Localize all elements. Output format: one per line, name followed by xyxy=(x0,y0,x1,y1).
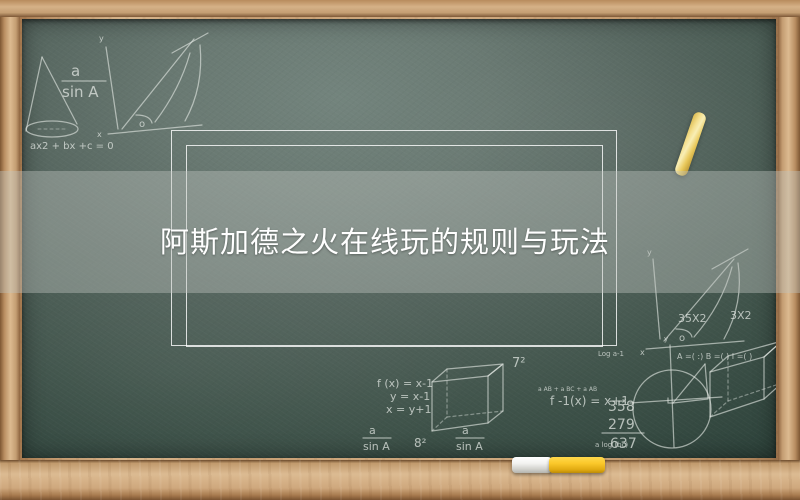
chalk-addition-addend-2: 279 xyxy=(608,417,635,433)
frame-top-rail xyxy=(0,0,800,17)
tray-grain-texture xyxy=(0,460,800,500)
chalk-addition-addend-1: 358 xyxy=(608,399,635,415)
page-title: 阿斯加德之火在线玩的规则与玩法 xyxy=(160,228,610,257)
chalk-circle-y-label: y xyxy=(664,335,668,343)
chalk-multiplication-b: 3X2 xyxy=(730,309,752,322)
chalk-addition-sum: 637 xyxy=(610,436,637,452)
chalk-log-small: Log a-1 xyxy=(598,350,624,358)
frame-bottom-tray xyxy=(0,460,800,500)
yellow-chalk-in-tray xyxy=(549,457,605,473)
chalk-multiplication-a: 35X2 xyxy=(678,312,707,325)
chalk-circle-vertical-axis xyxy=(670,345,674,447)
chalk-cube-right-front xyxy=(710,357,764,417)
chalk-matrix-expression: A =( :) B =( ) I =( ) xyxy=(677,352,752,361)
white-chalk-in-tray xyxy=(512,457,552,473)
chalk-cube-right-side xyxy=(764,341,776,399)
blackboard-banner: a sin A ax2 + bx +c = 0 y x o y xyxy=(0,0,800,500)
chalk-cube-right-hidden-a xyxy=(710,356,728,417)
chalk-cube-right-hidden-b xyxy=(728,383,776,401)
